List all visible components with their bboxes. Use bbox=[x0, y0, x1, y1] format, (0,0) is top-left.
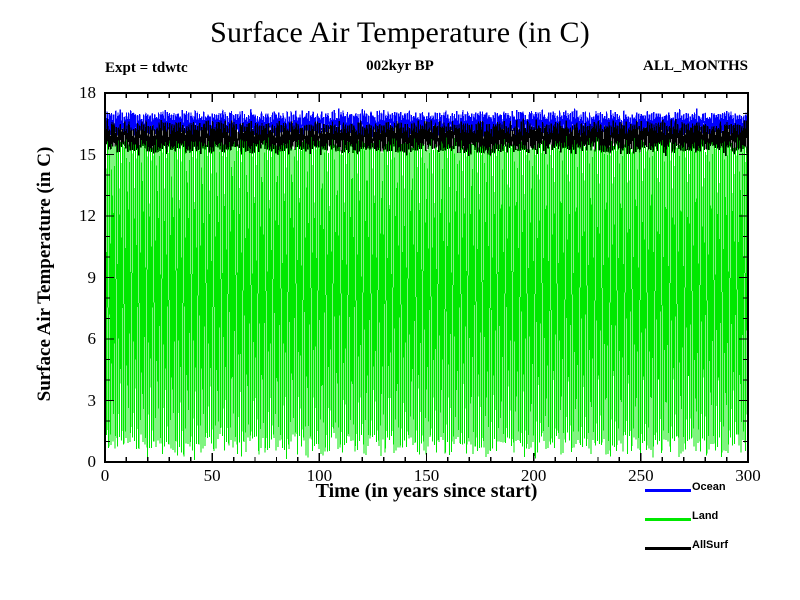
y-axis-title: Surface Air Temperature (in C) bbox=[34, 89, 56, 459]
y-tick-label: 15 bbox=[56, 145, 96, 165]
y-tick-label: 12 bbox=[56, 206, 96, 226]
plot-area bbox=[0, 0, 800, 600]
y-tick-label: 3 bbox=[56, 391, 96, 411]
legend-label: AllSurf bbox=[692, 539, 728, 551]
y-tick-label: 9 bbox=[56, 268, 96, 288]
legend-label: Ocean bbox=[692, 481, 726, 493]
y-tick-label: 6 bbox=[56, 329, 96, 349]
figure-canvas: Surface Air Temperature (in C) Expt = td… bbox=[0, 0, 800, 600]
y-tick-label: 0 bbox=[56, 452, 96, 472]
legend-swatch-allsurf bbox=[645, 547, 691, 550]
y-axis-title-wrap: Surface Air Temperature (in C) bbox=[30, 93, 60, 462]
legend-label: Land bbox=[692, 510, 718, 522]
legend-swatch-land bbox=[645, 518, 691, 521]
legend-swatch-ocean bbox=[645, 489, 691, 492]
y-tick-label: 18 bbox=[56, 83, 96, 103]
